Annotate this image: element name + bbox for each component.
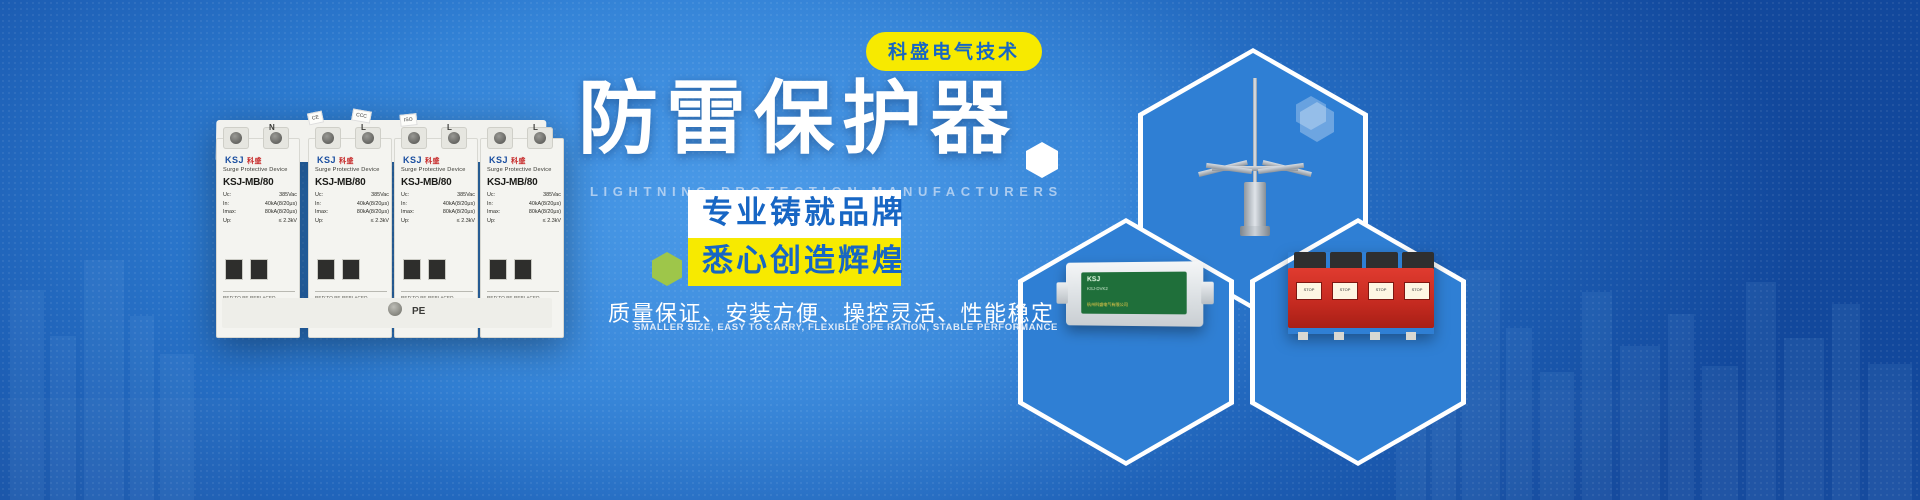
slogan-block: 专业铸就品牌 悉心创造辉煌 [688, 190, 901, 286]
product-specs: Uc:385Vac In:40kA(8/20μs) Imax:80kA(8/20… [487, 191, 561, 225]
spec-value: 80kA(8/20μs) [357, 208, 389, 217]
terminal-label: L [533, 123, 538, 132]
terminal-screw [527, 127, 553, 149]
red-surge-protector-device: STOP STOP STOP STOP [1288, 252, 1434, 334]
company-badge: 科盛电气技术 [866, 32, 1042, 71]
status-windows [403, 259, 446, 280]
promo-banner: L KSJ科盛 Surge Protective Device KSJ-MB/8… [0, 0, 1920, 500]
spec-value: ≤ 2.3kV [457, 217, 475, 226]
status-windows [225, 259, 268, 280]
spec-key: Imax: [487, 208, 500, 217]
status-windows [317, 259, 360, 280]
slogan-line-1: 专业铸就品牌 [688, 190, 901, 238]
spd-box-company: 杭州科盛电气有限公司 [1087, 302, 1128, 308]
product-model: KSJ-MB/80 [223, 177, 273, 188]
spd-base-rail [222, 298, 552, 328]
spec-value: ≤ 2.3kV [543, 217, 561, 226]
spec-value: ≤ 2.3kV [371, 217, 389, 226]
device-pin [1406, 332, 1416, 340]
spec-key: Up: [401, 217, 409, 226]
device-pin [1370, 332, 1380, 340]
cert-tag: CCC [351, 108, 372, 123]
spec-value: 385Vac [279, 191, 297, 200]
spec-key: In: [487, 200, 493, 209]
cert-tag: CE [307, 111, 324, 126]
product-type-label: Surge Protective Device [487, 167, 552, 173]
rod-base-plate [1240, 226, 1270, 236]
slogan-line-2: 悉心创造辉煌 [688, 238, 901, 286]
spd-box-brand: KSJ [1087, 276, 1100, 283]
product-brand: KSJ科盛 [403, 155, 440, 166]
spec-value: 80kA(8/20μs) [265, 208, 297, 217]
product-brand: KSJ科盛 [489, 155, 526, 166]
terminal-screw [487, 127, 513, 149]
product-model: KSJ-MB/80 [315, 177, 365, 188]
product-model: KSJ-MB/80 [401, 177, 451, 188]
status-window [225, 259, 243, 280]
spec-value: ≤ 2.3kV [279, 217, 297, 226]
device-hexagon-cluster: KSJ KSJ-DVK2 杭州科盛电气有限公司 STOP STOP STOP S… [1000, 30, 1900, 470]
mount-ear [1057, 282, 1068, 303]
terminal-screw [223, 127, 249, 149]
spec-key: Imax: [223, 208, 236, 217]
terminal-screw [263, 127, 289, 149]
status-window [514, 259, 532, 280]
cert-tag: ISO [399, 113, 417, 127]
spec-value: 80kA(8/20μs) [529, 208, 561, 217]
certification-tags: CE CCC ISO [308, 112, 428, 152]
product-specs: Uc:385Vac In:40kA(8/20μs) Imax:80kA(8/20… [223, 191, 297, 225]
spec-key: In: [401, 200, 407, 209]
product-specs: Uc:385Vac In:40kA(8/20μs) Imax:80kA(8/20… [401, 191, 475, 225]
spd-box-faceplate: KSJ KSJ-DVK2 杭州科盛电气有限公司 [1081, 272, 1186, 315]
spec-key: Uc: [401, 191, 409, 200]
decorative-hexagon [652, 252, 682, 286]
status-window [403, 259, 421, 280]
spec-value: 385Vac [457, 191, 475, 200]
status-window [489, 259, 507, 280]
divider [401, 291, 473, 292]
indicator-window: STOP [1296, 282, 1322, 300]
device-pin [1334, 332, 1344, 340]
pe-terminal-screw [388, 302, 402, 316]
indicator-window: STOP [1368, 282, 1394, 300]
spec-key: Up: [487, 217, 495, 226]
divider [487, 291, 559, 292]
spd-box-model: KSJ-DVK2 [1087, 286, 1108, 291]
spec-key: In: [315, 200, 321, 209]
mount-ear [1201, 282, 1214, 305]
product-brand: KSJ科盛 [225, 155, 262, 166]
spec-key: In: [223, 200, 229, 209]
product-specs: Uc:385Vac In:40kA(8/20μs) Imax:80kA(8/20… [315, 191, 389, 225]
spec-key: Imax: [401, 208, 414, 217]
spec-value: 385Vac [371, 191, 389, 200]
spec-key: Uc: [223, 191, 231, 200]
spec-value: 80kA(8/20μs) [443, 208, 475, 217]
page-title: 防雷保护器 [578, 76, 1018, 162]
lightning-rod-icon [1236, 78, 1274, 278]
indicator-window: STOP [1404, 282, 1430, 300]
product-type-label: Surge Protective Device [315, 167, 380, 173]
spec-value: 40kA(8/20μs) [443, 200, 475, 209]
rod-insulator [1244, 182, 1266, 228]
device-pin [1298, 332, 1308, 340]
spec-key: Uc: [487, 191, 495, 200]
spec-key: Imax: [315, 208, 328, 217]
spec-key: Up: [315, 217, 323, 226]
feature-list-en: SMALLER SIZE, EASY TO CARRY, FLEXIBLE OP… [634, 322, 1058, 333]
status-windows [489, 259, 532, 280]
status-window [250, 259, 268, 280]
status-window [428, 259, 446, 280]
terminal-label: N [269, 123, 275, 132]
spec-value: 40kA(8/20μs) [357, 200, 389, 209]
status-window [317, 259, 335, 280]
product-model: KSJ-MB/80 [487, 177, 537, 188]
terminal-screw [441, 127, 467, 149]
product-type-label: Surge Protective Device [223, 167, 288, 173]
indicator-window: STOP [1332, 282, 1358, 300]
terminal-label: L [447, 123, 452, 132]
spec-key: Up: [223, 217, 231, 226]
spd-metal-box-device: KSJ KSJ-DVK2 杭州科盛电气有限公司 [1066, 261, 1203, 327]
divider [315, 291, 387, 292]
product-brand: KSJ科盛 [317, 155, 354, 166]
pe-label: PE [412, 306, 425, 317]
spec-value: 40kA(8/20μs) [265, 200, 297, 209]
spec-value: 385Vac [543, 191, 561, 200]
spec-value: 40kA(8/20μs) [529, 200, 561, 209]
surge-protector-product-image: L KSJ科盛 Surge Protective Device KSJ-MB/8… [216, 120, 572, 336]
divider [223, 291, 295, 292]
spec-key: Uc: [315, 191, 323, 200]
status-window [342, 259, 360, 280]
product-type-label: Surge Protective Device [401, 167, 466, 173]
